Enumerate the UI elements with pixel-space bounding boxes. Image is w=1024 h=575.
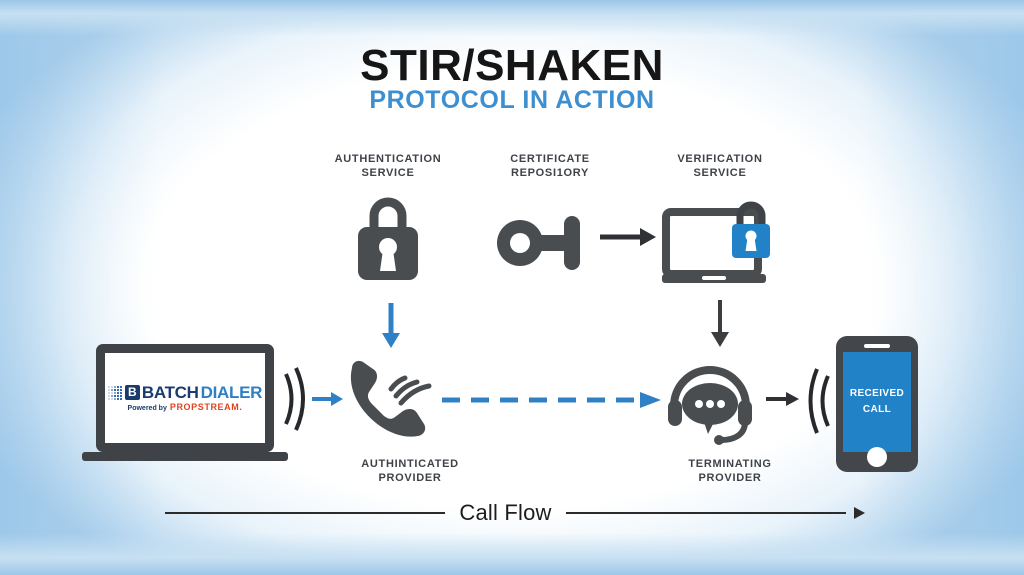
verification-service-node bbox=[662, 198, 776, 295]
logo-parent-brand: PROPSTREAM. bbox=[170, 403, 243, 412]
logo-mark-letter: B bbox=[125, 385, 140, 400]
dark-arrow-right-icon-2 bbox=[766, 389, 800, 409]
certificate-repository-node bbox=[496, 213, 586, 278]
blue-dashed-arrow-right-icon bbox=[442, 390, 662, 410]
dark-arrow-down-icon bbox=[707, 300, 733, 348]
label-terminating-provider: TERMINATING PROVIDER bbox=[650, 458, 810, 486]
label-verification-service: VERIFICATION SERVICE bbox=[645, 153, 795, 181]
headset-chat-icon bbox=[664, 358, 756, 446]
call-flow-line-left bbox=[165, 512, 445, 514]
terminating-provider-node bbox=[664, 358, 756, 451]
label-certificate-repository: CERTIFICATE REPOSI1ORY bbox=[475, 153, 625, 181]
incoming-signal-waves-icon bbox=[804, 366, 834, 441]
dark-arrow-right-icon bbox=[600, 226, 658, 248]
received-call-device-node: RECEIVED CALL bbox=[836, 336, 918, 472]
logo-dot-matrix bbox=[108, 386, 122, 400]
call-flow-arrowhead bbox=[854, 507, 865, 519]
phone-handset-signal-icon bbox=[340, 358, 434, 442]
page-title: STIR/SHAKEN bbox=[0, 44, 1024, 88]
phone-screen-line1: RECEIVED bbox=[850, 386, 904, 402]
call-flow-label: Call Flow bbox=[459, 500, 551, 526]
originating-signal-waves-icon bbox=[280, 366, 306, 437]
phone-home-button bbox=[867, 447, 887, 467]
call-flow-line-right bbox=[566, 512, 846, 514]
padlock-icon bbox=[352, 192, 424, 284]
logo-powered-by: Powered by bbox=[128, 405, 167, 412]
batchdialer-logo: B BATCHDIALER Powered by PROPSTREAM. bbox=[108, 384, 262, 412]
connector-verification-down bbox=[707, 300, 733, 353]
connector-key-to-verification bbox=[600, 226, 658, 253]
label-authenticated-provider: AUTHINTICATED PROVIDER bbox=[330, 458, 490, 486]
laptop-base bbox=[82, 452, 288, 461]
infographic-canvas: STIR/SHAKEN PROTOCOL IN ACTION AUTHENTIC… bbox=[0, 0, 1024, 575]
logo-brand-dialer: DIALER bbox=[201, 384, 262, 401]
connector-headset-to-phone bbox=[766, 389, 800, 414]
connector-auth-down bbox=[378, 303, 404, 354]
logo-brand-batch: BATCH bbox=[142, 384, 199, 401]
phone-screen: RECEIVED CALL bbox=[843, 352, 911, 452]
originating-device-node: B BATCHDIALER Powered by PROPSTREAM. bbox=[96, 344, 274, 452]
label-authentication-service: AUTHENTICATION SERVICE bbox=[313, 153, 463, 181]
smartphone-icon: RECEIVED CALL bbox=[836, 336, 918, 472]
call-flow-bar: Call Flow bbox=[165, 500, 865, 526]
blue-arrow-down-icon bbox=[378, 303, 404, 349]
phone-screen-line2: CALL bbox=[863, 402, 891, 418]
key-icon bbox=[496, 213, 586, 273]
connector-handset-to-headset bbox=[442, 390, 662, 415]
page-subtitle: PROTOCOL IN ACTION bbox=[0, 88, 1024, 113]
laptop-with-lock-icon bbox=[662, 198, 776, 290]
authentication-service-node bbox=[352, 192, 424, 289]
authenticated-provider-node bbox=[340, 358, 434, 447]
laptop-icon: B BATCHDIALER Powered by PROPSTREAM. bbox=[96, 344, 274, 452]
phone-speaker bbox=[864, 344, 890, 348]
